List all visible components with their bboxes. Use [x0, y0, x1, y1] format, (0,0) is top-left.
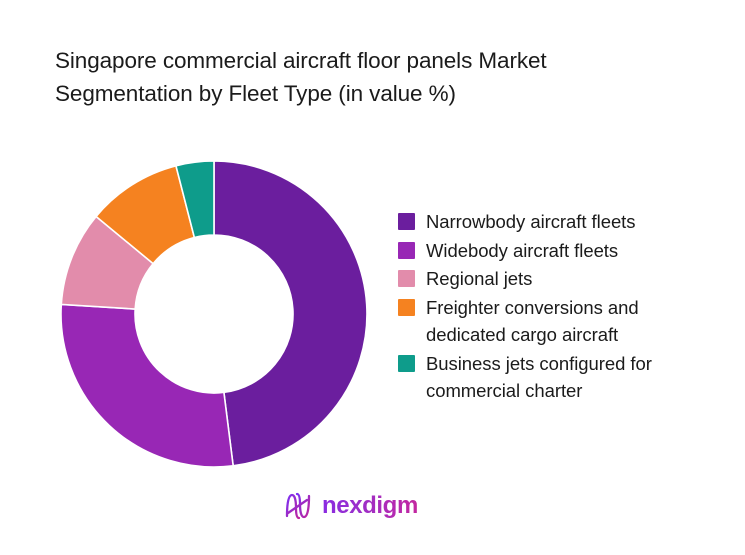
- legend-item[interactable]: Business jets configured for commercial …: [398, 350, 728, 405]
- legend-label: Business jets configured for commercial …: [426, 350, 722, 405]
- legend-swatch-widebody-aircraft-fleets: [398, 242, 415, 259]
- donut-chart: [0, 0, 430, 500]
- legend-swatch-regional-jets: [398, 270, 415, 287]
- donut-slice[interactable]: [214, 161, 367, 466]
- donut-slice[interactable]: [61, 304, 233, 467]
- legend-label: Freighter conversions and dedicated carg…: [426, 294, 722, 349]
- legend-swatch-business-jets: [398, 355, 415, 372]
- brand-name: nexdigm: [322, 494, 418, 518]
- legend-swatch-narrowbody-aircraft-fleets: [398, 213, 415, 230]
- brand-logo: nexdigm: [283, 489, 418, 523]
- legend-swatch-freighter-conversions: [398, 299, 415, 316]
- legend-item[interactable]: Regional jets: [398, 265, 728, 293]
- chart-page: Singapore commercial aircraft floor pane…: [0, 0, 745, 555]
- nexdigm-wave-n-logo-icon: [283, 491, 313, 521]
- legend-item[interactable]: Narrowbody aircraft fleets: [398, 208, 728, 236]
- donut-slice-group: [61, 161, 367, 467]
- legend-label: Narrowbody aircraft fleets: [426, 208, 635, 236]
- donut-chart-svg: [0, 0, 430, 500]
- legend-item[interactable]: Widebody aircraft fleets: [398, 237, 728, 265]
- legend-label: Widebody aircraft fleets: [426, 237, 618, 265]
- legend-item[interactable]: Freighter conversions and dedicated carg…: [398, 294, 728, 349]
- chart-legend: Narrowbody aircraft fleets Widebody airc…: [398, 208, 728, 406]
- legend-label: Regional jets: [426, 265, 532, 293]
